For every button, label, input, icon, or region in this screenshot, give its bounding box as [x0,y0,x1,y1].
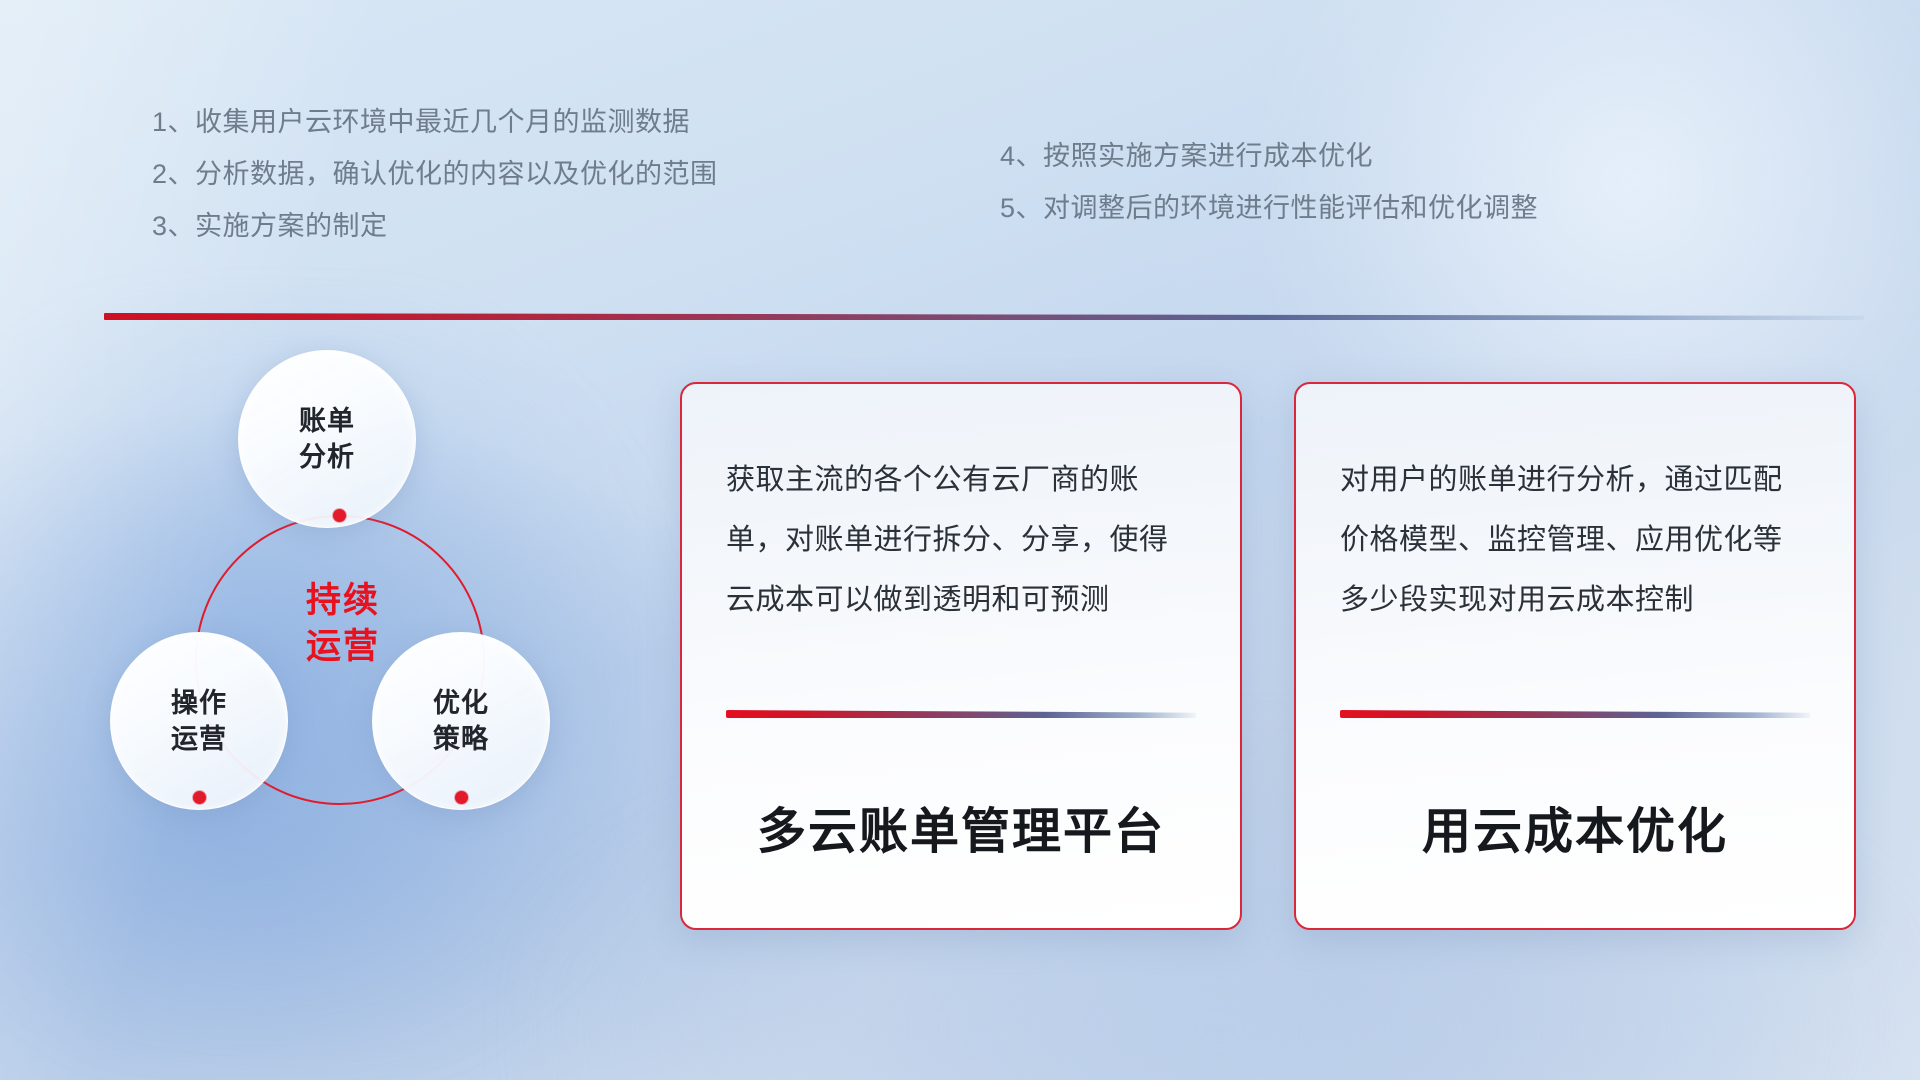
step-item-2: 2、分析数据，确认优化的内容以及优化的范围 [152,148,718,200]
diagram-bubble-optimization-strategy-label: 优化 策略 [433,685,489,757]
card-divider-rule [1340,710,1810,718]
diagram-bubble-optimization-strategy[interactable]: 优化 策略 [372,632,550,810]
card-multicloud-bill-platform-body: 获取主流的各个公有云厂商的账单，对账单进行拆分、分享，使得云成本可以做到透明和可… [726,450,1196,690]
diagram-node-dot-top [333,509,346,522]
bubble-label-line1: 优化 [433,685,489,721]
diagram-bubble-operations[interactable]: 操作 运营 [110,632,288,810]
bubble-label-line1: 账单 [299,403,355,439]
bubble-label-line2: 分析 [299,439,355,475]
steps-right-column: 4、按照实施方案进行成本优化 5、对调整后的环境进行性能评估和优化调整 [1000,130,1538,234]
step-item-4: 4、按照实施方案进行成本优化 [1000,130,1538,182]
diagram-bubble-operations-label: 操作 运营 [171,685,227,757]
card-divider-rule [726,710,1196,718]
card-cloud-cost-optimization-title: 用云成本优化 [1340,792,1810,863]
bubble-label-line2: 策略 [433,721,489,757]
diagram-node-dot-right [455,791,468,804]
step-item-1: 1、收集用户云环境中最近几个月的监测数据 [152,96,718,148]
step-item-3: 3、实施方案的制定 [152,200,718,252]
slide-root: 1、收集用户云环境中最近几个月的监测数据 2、分析数据，确认优化的内容以及优化的… [0,0,1920,1080]
card-cloud-cost-optimization[interactable]: 对用户的账单进行分析，通过匹配价格模型、监控管理、应用优化等多少段实现对用云成本… [1294,382,1856,930]
steps-section: 1、收集用户云环境中最近几个月的监测数据 2、分析数据，确认优化的内容以及优化的… [0,96,1920,266]
steps-left-column: 1、收集用户云环境中最近几个月的监测数据 2、分析数据，确认优化的内容以及优化的… [152,96,718,252]
bubble-label-line1: 操作 [171,685,227,721]
card-multicloud-bill-platform-title: 多云账单管理平台 [726,792,1196,863]
diagram-bubble-bill-analysis[interactable]: 账单 分析 [238,350,416,528]
continuous-operation-diagram: 持续 运营 账单 分析 操作 运营 优化 策略 [100,350,630,930]
diagram-bubble-bill-analysis-label: 账单 分析 [299,403,355,475]
diagram-node-dot-left [193,791,206,804]
diagram-center-label-line1: 持续 [258,578,428,624]
bubble-label-line2: 运营 [171,721,227,757]
card-cloud-cost-optimization-body: 对用户的账单进行分析，通过匹配价格模型、监控管理、应用优化等多少段实现对用云成本… [1340,450,1810,690]
step-item-5: 5、对调整后的环境进行性能评估和优化调整 [1000,182,1538,234]
card-multicloud-bill-platform[interactable]: 获取主流的各个公有云厂商的账单，对账单进行拆分、分享，使得云成本可以做到透明和可… [680,382,1242,930]
